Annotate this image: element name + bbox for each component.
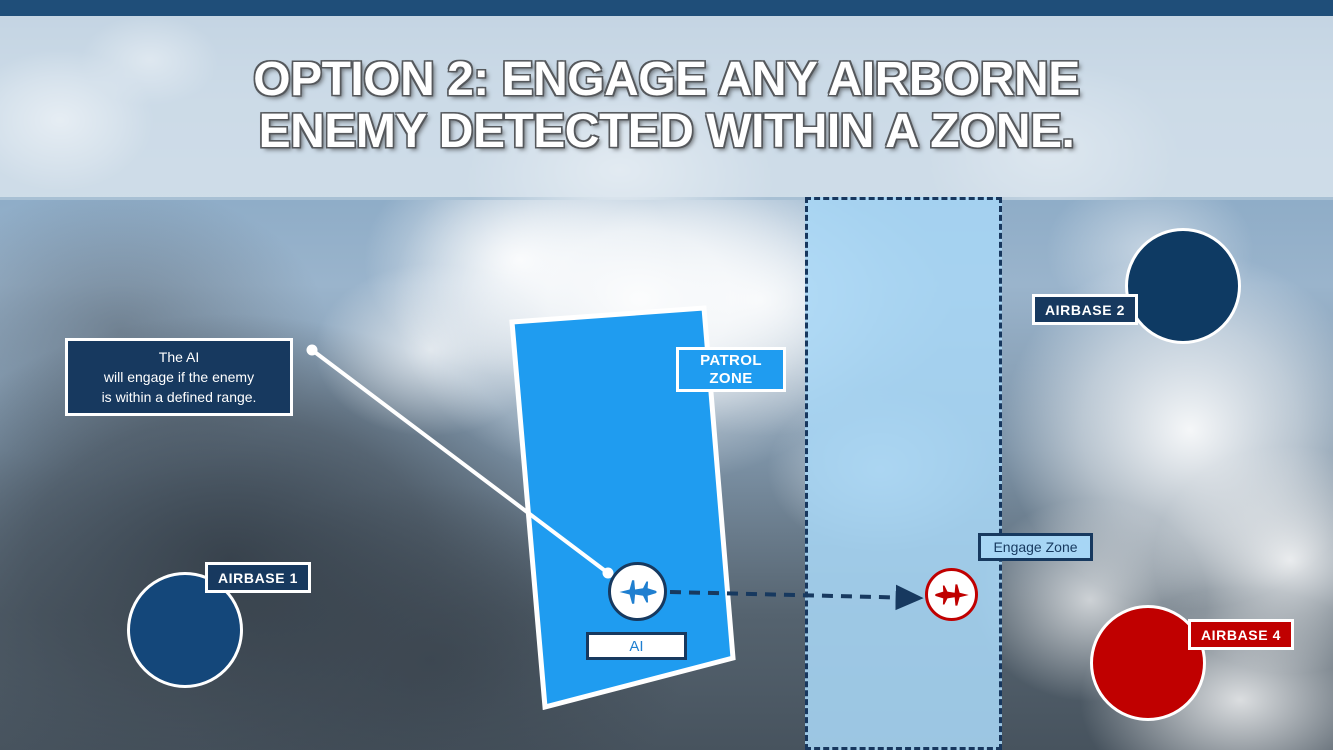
engage-zone-label[interactable]: Engage Zone xyxy=(978,533,1093,561)
slide-title: OPTION 2: ENGAGE ANY AIRBORNE ENEMY DETE… xyxy=(0,54,1333,158)
airbase-2-marker[interactable] xyxy=(1125,228,1241,344)
presentation-slide: OPTION 2: ENGAGE ANY AIRBORNE ENEMY DETE… xyxy=(0,0,1333,750)
airbase-2-label[interactable]: AIRBASE 2 xyxy=(1032,294,1138,325)
airbase-1-label[interactable]: AIRBASE 1 xyxy=(205,562,311,593)
ai-fighter-jet-marker[interactable] xyxy=(608,562,667,621)
enemy-fighter-jet-marker[interactable] xyxy=(925,568,978,621)
ai-engagement-callout: The AI will engage if the enemy is withi… xyxy=(65,338,293,416)
ai-unit-label[interactable]: AI xyxy=(586,632,687,660)
patrol-zone-label[interactable]: PATROL ZONE xyxy=(676,347,786,392)
airbase-4-label[interactable]: AIRBASE 4 xyxy=(1188,619,1294,650)
fighter-jet-icon xyxy=(617,571,659,613)
slide-header: OPTION 2: ENGAGE ANY AIRBORNE ENEMY DETE… xyxy=(0,16,1333,197)
top-accent-band xyxy=(0,0,1333,16)
engage-zone-region[interactable] xyxy=(805,197,1002,750)
fighter-jet-icon xyxy=(933,576,971,614)
